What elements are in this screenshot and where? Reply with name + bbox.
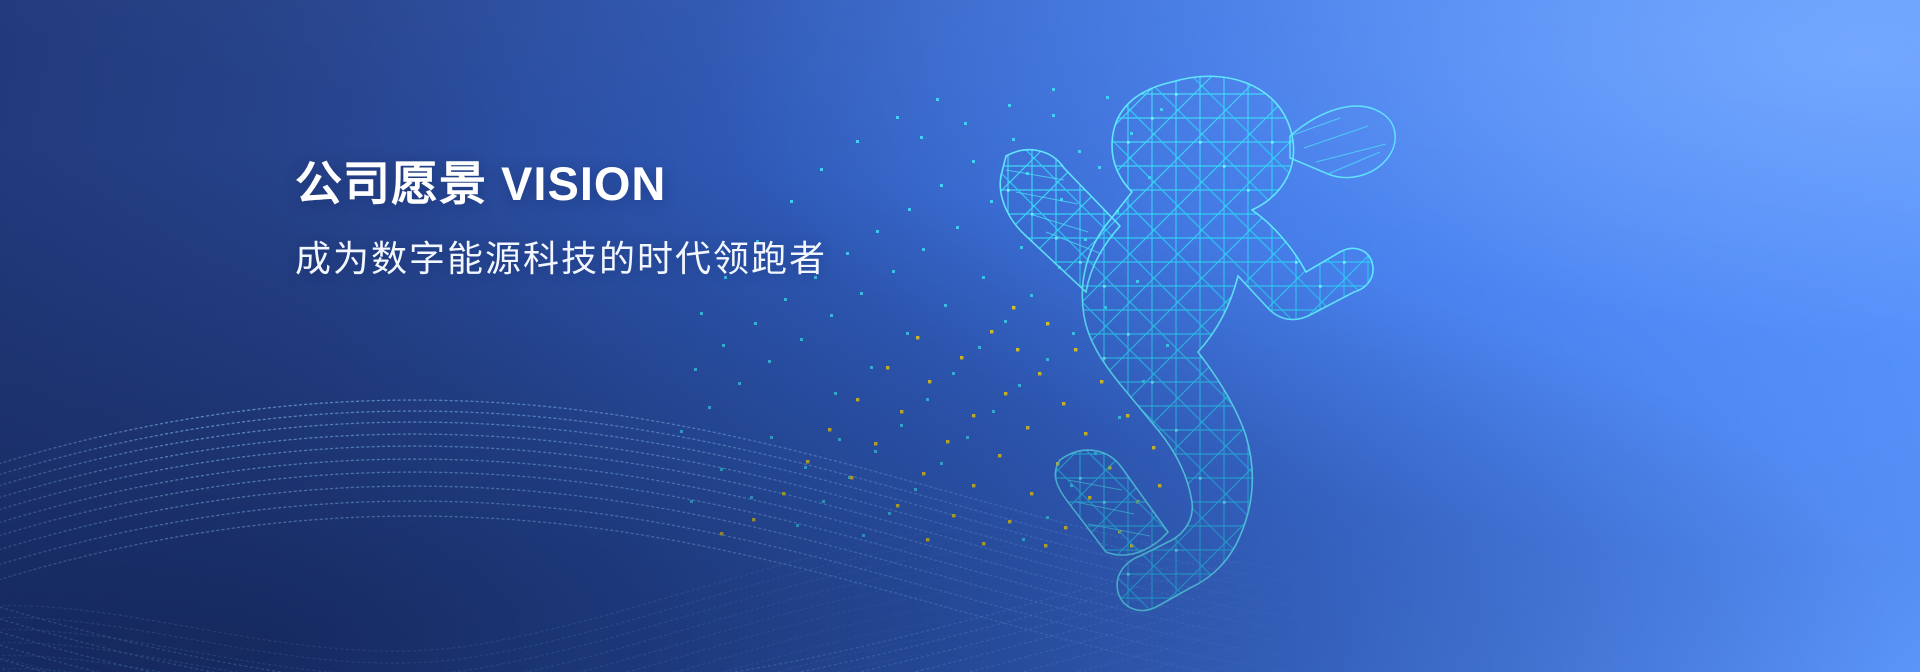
background-sheen [0,0,1920,672]
particle-cloud-icon [660,80,1180,550]
wave-ribbon-front-icon [0,282,1340,672]
wave-ribbon-back-icon [0,382,1130,672]
running-man-wireframe-icon [820,40,1440,640]
banner-title: 公司愿景 VISION [295,155,1055,212]
banner-copy: 公司愿景 VISION 成为数字能源科技的时代领跑者 [295,155,1055,283]
vision-banner: 公司愿景 VISION 成为数字能源科技的时代领跑者 [0,0,1920,672]
banner-subtitle: 成为数字能源科技的时代领跑者 [295,236,1055,283]
background-vignette [0,0,1920,672]
